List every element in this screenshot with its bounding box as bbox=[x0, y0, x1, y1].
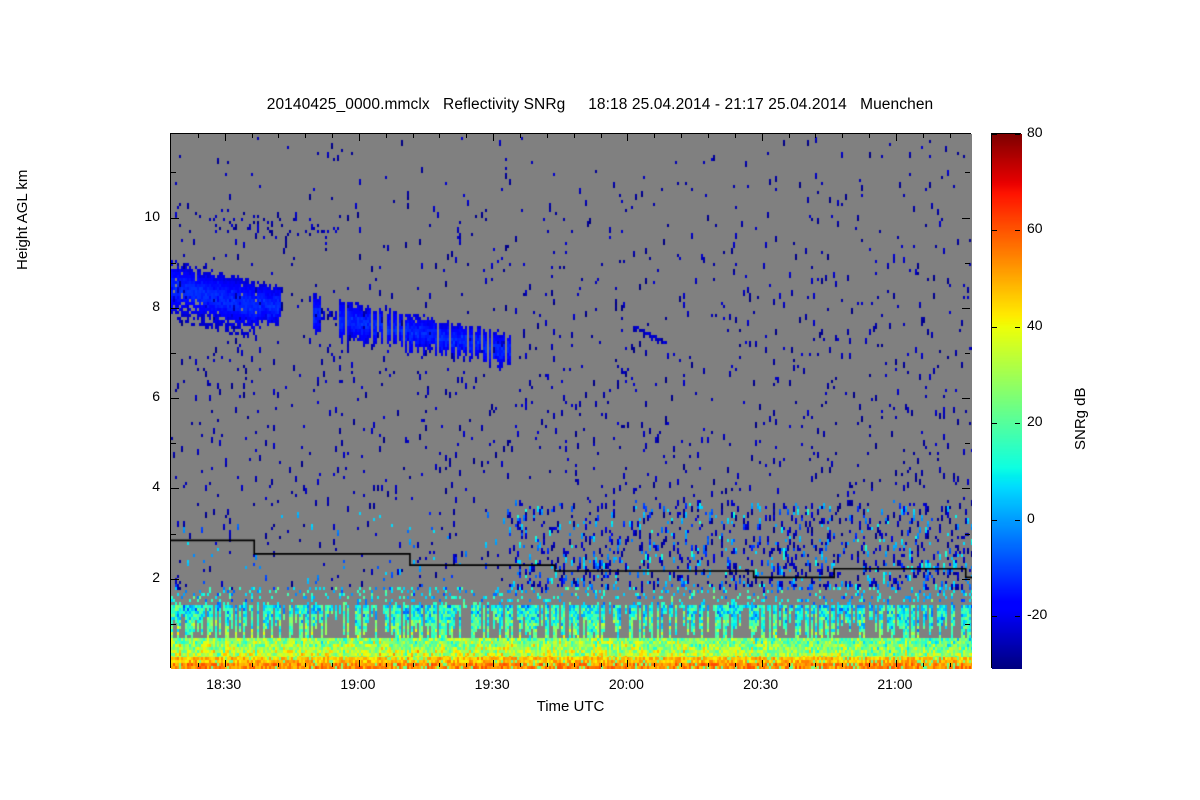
x-tick-label: 19:30 bbox=[457, 676, 527, 692]
y-tick-label: 4 bbox=[120, 478, 160, 494]
y-tick-label: 8 bbox=[120, 298, 160, 314]
figure-root: 20140425_0000.mmclx Reflectivity SNRg 18… bbox=[0, 0, 1200, 800]
radar-heatmap-canvas bbox=[171, 134, 972, 669]
y-tick-major bbox=[171, 398, 179, 399]
x-tick-major bbox=[359, 660, 360, 667]
x-tick-major bbox=[225, 134, 226, 141]
colorbar-tick-label: -20 bbox=[1027, 606, 1047, 622]
x-tick-minor bbox=[681, 663, 682, 667]
x-tick-minor bbox=[789, 134, 790, 138]
x-tick-minor bbox=[789, 663, 790, 667]
colorbar bbox=[991, 133, 1021, 668]
x-tick-minor bbox=[198, 134, 199, 138]
colorbar-canvas bbox=[992, 134, 1022, 669]
y-tick-major bbox=[171, 308, 179, 309]
x-tick-minor bbox=[466, 134, 467, 138]
x-tick-minor bbox=[439, 663, 440, 667]
x-tick-minor bbox=[252, 134, 253, 138]
colorbar-tick bbox=[992, 520, 997, 521]
colorbar-tick bbox=[992, 616, 997, 617]
title-station: Muenchen bbox=[860, 96, 933, 114]
x-tick-minor bbox=[708, 134, 709, 138]
y-tick-minor bbox=[965, 443, 970, 444]
x-tick-minor bbox=[520, 663, 521, 667]
x-tick-minor bbox=[520, 134, 521, 138]
colorbar-tick-label: 60 bbox=[1027, 220, 1043, 236]
y-tick-minor bbox=[965, 353, 970, 354]
x-tick-minor bbox=[950, 134, 951, 138]
x-tick-minor bbox=[413, 134, 414, 138]
x-tick-label: 20:00 bbox=[591, 676, 661, 692]
y-tick-major bbox=[962, 308, 970, 309]
x-tick-label: 19:00 bbox=[323, 676, 393, 692]
x-tick-major bbox=[896, 660, 897, 667]
x-tick-minor bbox=[923, 134, 924, 138]
x-tick-minor bbox=[842, 663, 843, 667]
title-timerange: 18:18 25.04.2014 - 21:17 25.04.2014 bbox=[588, 96, 847, 114]
y-tick-minor bbox=[965, 172, 970, 173]
colorbar-tick bbox=[1015, 616, 1020, 617]
x-tick-minor bbox=[735, 663, 736, 667]
colorbar-label: SNRg dB bbox=[1072, 387, 1089, 450]
x-tick-minor bbox=[305, 663, 306, 667]
x-tick-minor bbox=[923, 663, 924, 667]
x-tick-minor bbox=[815, 663, 816, 667]
y-tick-minor bbox=[171, 263, 176, 264]
y-tick-minor bbox=[965, 263, 970, 264]
x-tick-minor bbox=[842, 134, 843, 138]
y-tick-major bbox=[962, 398, 970, 399]
x-tick-label: 20:30 bbox=[726, 676, 796, 692]
x-tick-minor bbox=[869, 663, 870, 667]
x-tick-label: 21:00 bbox=[860, 676, 930, 692]
x-tick-minor bbox=[278, 663, 279, 667]
colorbar-tick bbox=[1015, 327, 1020, 328]
y-tick-major bbox=[171, 579, 179, 580]
x-tick-major bbox=[896, 134, 897, 141]
x-tick-major bbox=[762, 134, 763, 141]
colorbar-tick bbox=[992, 327, 997, 328]
x-tick-minor bbox=[386, 663, 387, 667]
x-tick-minor bbox=[439, 134, 440, 138]
x-tick-minor bbox=[950, 663, 951, 667]
x-tick-minor bbox=[815, 134, 816, 138]
x-tick-minor bbox=[681, 134, 682, 138]
x-tick-minor bbox=[574, 134, 575, 138]
colorbar-tick bbox=[992, 134, 997, 135]
x-axis-label: Time UTC bbox=[170, 698, 971, 715]
x-tick-minor bbox=[654, 663, 655, 667]
colorbar-tick bbox=[1015, 230, 1020, 231]
x-tick-minor bbox=[413, 663, 414, 667]
colorbar-tick bbox=[992, 230, 997, 231]
y-tick-label: 2 bbox=[120, 569, 160, 585]
y-tick-major bbox=[171, 218, 179, 219]
x-tick-minor bbox=[332, 663, 333, 667]
x-tick-major bbox=[225, 660, 226, 667]
x-tick-minor bbox=[198, 663, 199, 667]
colorbar-tick bbox=[1015, 520, 1020, 521]
x-tick-major bbox=[627, 134, 628, 141]
x-tick-minor bbox=[601, 663, 602, 667]
x-tick-major bbox=[493, 134, 494, 141]
y-tick-minor bbox=[965, 534, 970, 535]
colorbar-tick-label: 80 bbox=[1027, 124, 1043, 140]
x-tick-minor bbox=[466, 663, 467, 667]
plot-area[interactable] bbox=[170, 133, 971, 668]
x-tick-minor bbox=[547, 134, 548, 138]
x-tick-minor bbox=[305, 134, 306, 138]
title-quantity: Reflectivity SNRg bbox=[443, 96, 565, 114]
title-filename: 20140425_0000.mmclx bbox=[267, 96, 430, 114]
colorbar-tick bbox=[992, 423, 997, 424]
x-tick-minor bbox=[252, 663, 253, 667]
colorbar-tick-label: 20 bbox=[1027, 413, 1043, 429]
y-tick-minor bbox=[171, 624, 176, 625]
colorbar-tick bbox=[1015, 423, 1020, 424]
x-tick-major bbox=[627, 660, 628, 667]
x-tick-minor bbox=[278, 134, 279, 138]
x-tick-minor bbox=[386, 134, 387, 138]
y-tick-minor bbox=[171, 534, 176, 535]
x-tick-minor bbox=[708, 663, 709, 667]
colorbar-tick-label: 0 bbox=[1027, 510, 1035, 526]
y-axis-label: Height AGL km bbox=[14, 170, 31, 270]
colorbar-tick-label: 40 bbox=[1027, 317, 1043, 333]
y-tick-minor bbox=[171, 443, 176, 444]
x-tick-major bbox=[493, 660, 494, 667]
x-tick-minor bbox=[547, 663, 548, 667]
y-tick-minor bbox=[171, 172, 176, 173]
y-tick-major bbox=[962, 579, 970, 580]
x-tick-minor bbox=[601, 134, 602, 138]
x-tick-minor bbox=[574, 663, 575, 667]
y-tick-major bbox=[962, 488, 970, 489]
x-tick-major bbox=[762, 660, 763, 667]
x-tick-minor bbox=[735, 134, 736, 138]
x-tick-major bbox=[359, 134, 360, 141]
y-tick-major bbox=[171, 488, 179, 489]
x-tick-minor bbox=[869, 134, 870, 138]
y-tick-minor bbox=[965, 624, 970, 625]
y-tick-label: 10 bbox=[120, 208, 160, 224]
x-tick-minor bbox=[654, 134, 655, 138]
x-tick-minor bbox=[332, 134, 333, 138]
y-tick-label: 6 bbox=[120, 388, 160, 404]
x-tick-label: 18:30 bbox=[189, 676, 259, 692]
colorbar-tick bbox=[1015, 134, 1020, 135]
y-tick-major bbox=[962, 218, 970, 219]
plot-title: 20140425_0000.mmclx Reflectivity SNRg 18… bbox=[0, 96, 1200, 114]
y-tick-minor bbox=[171, 353, 176, 354]
